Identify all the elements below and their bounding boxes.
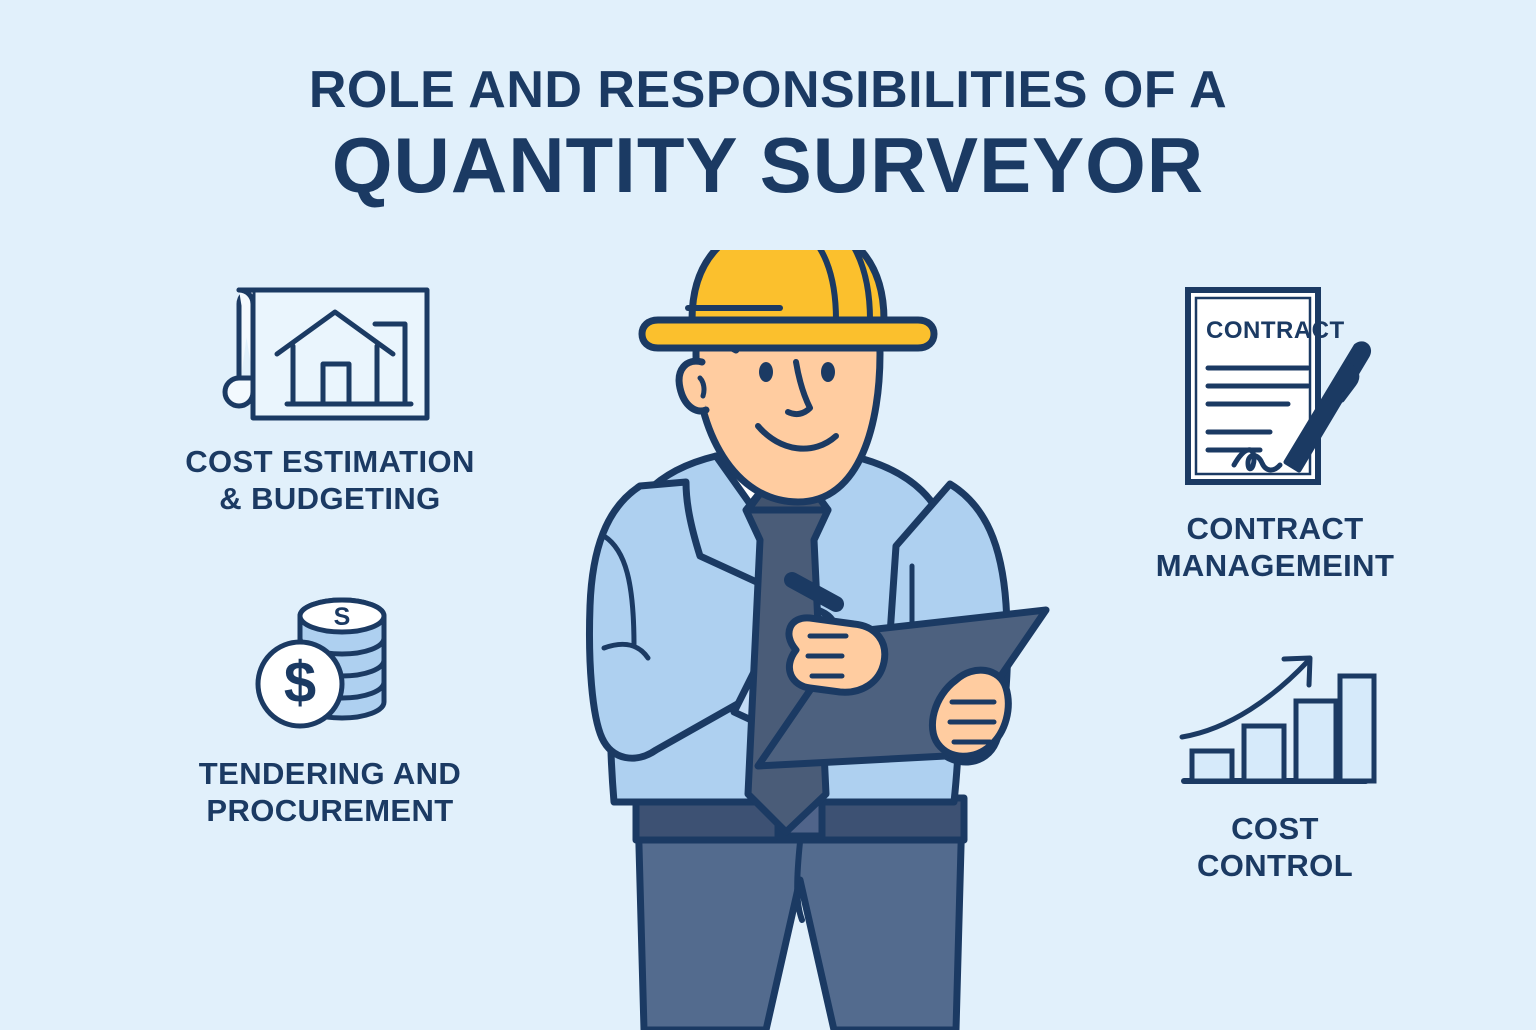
caption-line-2: CONTROL (1060, 848, 1490, 885)
title-line-2: QUANTITY SURVEYOR (0, 122, 1536, 209)
growth-chart-icon-wrap (1060, 645, 1490, 795)
page-title: ROLE AND RESPONSIBILITIES OF A QUANTITY … (0, 62, 1536, 210)
caption-line-2: MANAGEMEINT (1060, 548, 1490, 585)
feature-tendering-caption: TENDERING AND PROCUREMENT (120, 756, 540, 829)
contract-signing-icon: CONTRACT (1160, 280, 1390, 495)
chart-bar-4 (1340, 676, 1374, 781)
caption-line-1: COST (1060, 811, 1490, 848)
feature-contract-management-caption: CONTRACT MANAGEMEINT (1060, 511, 1490, 584)
growth-bar-chart-icon (1170, 645, 1380, 795)
feature-cost-estimation-caption: COST ESTIMATION & BUDGETING (120, 444, 540, 517)
feature-cost-estimation: COST ESTIMATION & BUDGETING (120, 268, 540, 517)
title-line-1: ROLE AND RESPONSIBILITIES OF A (0, 62, 1536, 118)
caption-line-1: COST ESTIMATION (120, 444, 540, 481)
feature-contract-management: CONTRACT CONTRACT MANAGEMEINT (1060, 280, 1490, 584)
feature-cost-control-caption: COST CONTROL (1060, 811, 1490, 884)
feature-tendering: S $ TENDERING AND PROCUREMENT (120, 580, 540, 829)
caption-line-1: CONTRACT (1060, 511, 1490, 548)
caption-line-2: PROCUREMENT (120, 793, 540, 830)
quantity-surveyor-illustration (520, 250, 1080, 1030)
caption-line-1: TENDERING AND (120, 756, 540, 793)
chart-bar-2 (1244, 726, 1284, 781)
feature-cost-control: COST CONTROL (1060, 645, 1490, 884)
hard-hat-brim (642, 320, 934, 348)
contract-icon-wrap: CONTRACT (1060, 280, 1490, 495)
caption-line-2: & BUDGETING (120, 481, 540, 518)
infographic-poster: ROLE AND RESPONSIBILITIES OF A QUANTITY … (0, 0, 1536, 1024)
coins-icon: S $ (230, 580, 430, 740)
coin-top-symbol: S (334, 603, 351, 631)
chart-bar-3 (1296, 701, 1336, 781)
blueprint-icon-wrap (120, 268, 540, 428)
coins-icon-wrap: S $ (120, 580, 540, 740)
contract-heading: CONTRACT (1206, 317, 1345, 344)
blueprint-icon (215, 268, 445, 428)
coin-front-symbol: $ (284, 650, 316, 715)
eye-right (821, 362, 835, 382)
chart-bar-1 (1192, 751, 1232, 781)
eye-left (759, 362, 773, 382)
